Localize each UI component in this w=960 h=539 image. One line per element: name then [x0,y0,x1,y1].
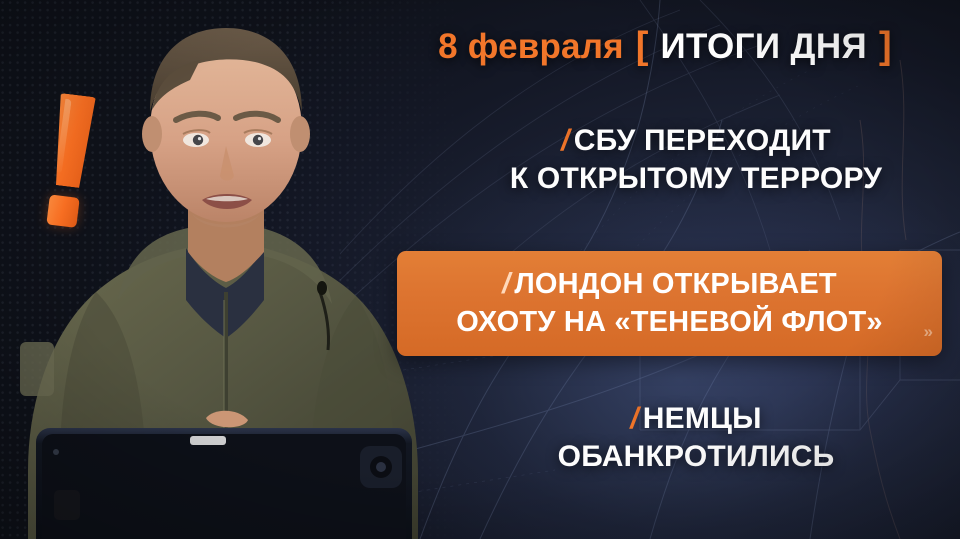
headline-3-text-line-1: НЕМЦЫ [643,402,762,435]
presenter-figure [0,0,460,539]
slash-accent-icon: / [502,268,514,300]
slash-accent-icon: / [630,402,643,435]
slash-accent-icon: / [561,124,574,157]
bracket-close: ] [877,25,894,67]
exclamation-mark-icon [28,91,134,236]
bracket-open: [ [634,25,651,67]
chevron-right-icon: » [924,322,930,342]
headline-item-3: /НЕМЦЫ ОБАНКРОТИЛИСЬ [436,400,956,477]
date-header: 8 февраля [ ИТОГИ ДНЯ ] [386,26,946,68]
rubric-label: ИТОГИ ДНЯ [661,27,868,66]
exclamation-bar [47,93,98,189]
headline-item-2-banner: /ЛОНДОН ОТКРЫВАЕТ ОХОТУ НА «ТЕНЕВОЙ ФЛОТ… [397,251,942,356]
headline-1-text-line-2: К ОТКРЫТОМУ ТЕРРОРУ [436,160,956,198]
headline-2-text-line-2: ОХОТУ НА «ТЕНЕВОЙ ФЛОТ» [456,304,883,342]
headline-3-line-1: /НЕМЦЫ [436,400,956,438]
headline-1-text-line-1: СБУ ПЕРЕХОДИТ [574,124,831,157]
banner-text: /ЛОНДОН ОТКРЫВАЕТ ОХОТУ НА «ТЕНЕВОЙ ФЛОТ… [446,266,893,341]
headline-1-line-1: /СБУ ПЕРЕХОДИТ [436,122,956,160]
headline-item-1: /СБУ ПЕРЕХОДИТ К ОТКРЫТОМУ ТЕРРОРУ [436,122,956,199]
headline-2-line-1: /ЛОНДОН ОТКРЫВАЕТ [456,266,883,304]
headline-3-text-line-2: ОБАНКРОТИЛИСЬ [436,438,956,476]
exclamation-dot [46,194,79,227]
news-thumbnail: 8 февраля [ ИТОГИ ДНЯ ] /СБУ ПЕРЕХОДИТ К… [0,0,960,539]
headline-2-text-line-1: ЛОНДОН ОТКРЫВАЕТ [514,268,836,300]
date-label: 8 февраля [438,27,624,66]
